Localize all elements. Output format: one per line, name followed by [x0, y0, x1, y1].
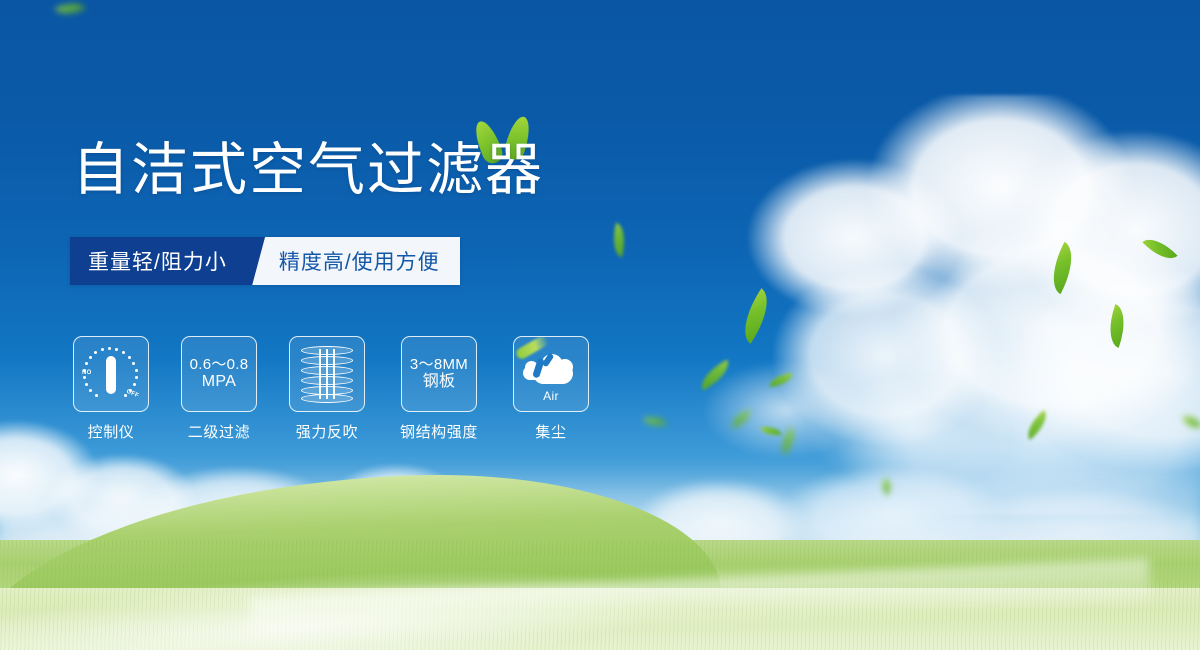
leaf-icon: [1042, 242, 1083, 294]
subtitle-banner: 重量轻/阻力小 精度高/使用方便: [70, 237, 460, 285]
feature-icon-box: NO OFF: [73, 336, 149, 412]
gauge-on-label: NO: [82, 370, 92, 376]
cumulus-cloud-right: [740, 95, 1200, 515]
feature-label: 二级过滤: [188, 421, 250, 442]
subtitle-right-text: 精度高/使用方便: [273, 237, 460, 285]
leaf-icon: [761, 425, 782, 437]
leaf-icon: [55, 0, 86, 20]
product-hero-banner: 自洁式空气过滤器 重量轻/阻力小 精度高/使用方便: [0, 0, 1200, 650]
feature-item-blowback[interactable]: 强力反吹: [289, 336, 365, 442]
page-title: 自洁式空气过滤器: [72, 142, 544, 199]
feature-label: 集尘: [535, 421, 566, 442]
leaf-icon: [776, 427, 801, 455]
gauge-off-label: OFF: [125, 389, 139, 399]
feature-item-dust-collection[interactable]: Air 集尘: [513, 336, 589, 442]
leaf-icon: [643, 414, 667, 429]
subtitle-left-text: 重量轻/阻力小: [70, 237, 247, 285]
feature-value-line2: 钢板: [410, 373, 468, 391]
feature-list: NO OFF 控制仪 0.6～0.8 MPA 二级过滤: [73, 336, 589, 442]
air-label: Air: [521, 389, 581, 403]
leaf-icon: [608, 223, 629, 257]
subtitle-divider: [247, 237, 273, 285]
leaf-icon: [1021, 410, 1053, 440]
leaf-icon: [877, 477, 895, 495]
leaf-icon: [1142, 231, 1177, 267]
filter-stack-icon: [301, 345, 353, 403]
leaf-icon: [768, 373, 793, 387]
cloud-air-icon: Air: [521, 349, 581, 399]
feature-icon-box: Air: [513, 336, 589, 412]
feature-icon-box: [289, 336, 365, 412]
feature-value-line2: MPA: [190, 373, 249, 391]
leaf-icon: [695, 359, 734, 390]
gauge-needle: [106, 356, 116, 394]
feature-item-control-gauge[interactable]: NO OFF 控制仪: [73, 336, 149, 442]
feature-value-line1: 3～8MM: [410, 357, 468, 374]
feature-label: 强力反吹: [296, 421, 358, 442]
gauge-icon: NO OFF: [81, 345, 141, 403]
feature-item-two-stage-filter[interactable]: 0.6～0.8 MPA 二级过滤: [181, 336, 257, 442]
feature-label: 控制仪: [88, 421, 135, 442]
feature-value-line1: 0.6～0.8: [190, 357, 249, 374]
feature-icon-box: 0.6～0.8 MPA: [181, 336, 257, 412]
leaf-icon: [729, 410, 754, 429]
leaf-icon: [732, 288, 779, 343]
feature-label: 钢结构强度: [397, 421, 481, 442]
feature-item-steel-strength[interactable]: 3～8MM 钢板 钢结构强度: [397, 336, 481, 442]
cloud-wisp: [690, 300, 1010, 520]
leaf-icon: [1182, 412, 1200, 432]
leaf-icon: [1102, 304, 1133, 348]
feature-icon-box: 3～8MM 钢板: [401, 336, 477, 412]
